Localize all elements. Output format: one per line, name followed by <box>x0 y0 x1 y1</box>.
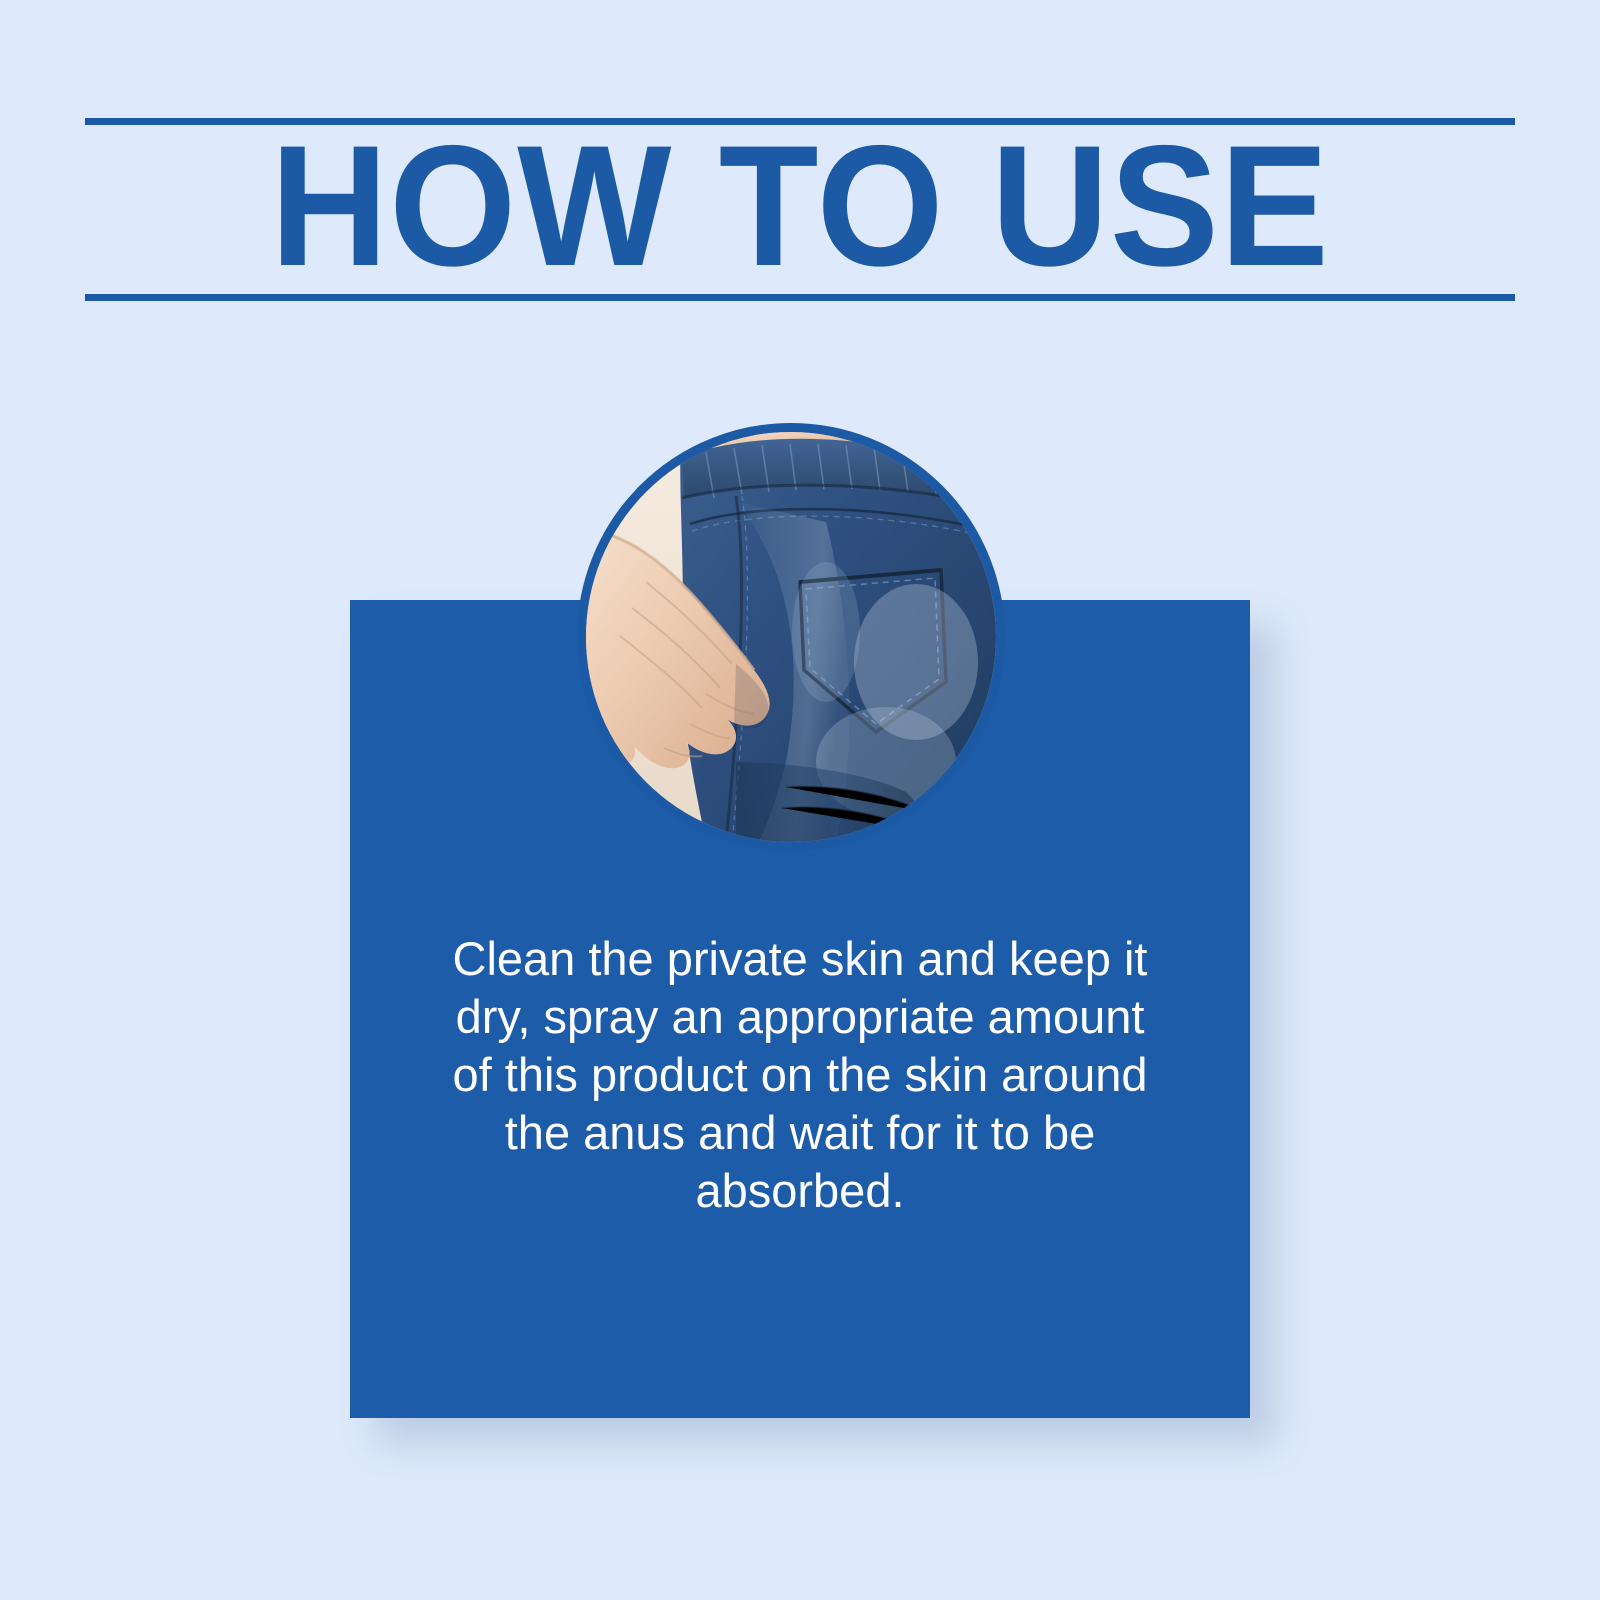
jeans-buttock-hand-photo-icon <box>586 432 996 842</box>
usage-photo-circle <box>577 423 1005 851</box>
instruction-text: Clean the private skin and keep it dry, … <box>450 930 1150 1220</box>
page-title: HOW TO USE <box>121 130 1480 282</box>
header-block: HOW TO USE <box>85 112 1515 302</box>
how-to-use-poster: HOW TO USE Clean the private skin and ke… <box>0 0 1600 1600</box>
title-rule-bottom <box>85 294 1515 301</box>
